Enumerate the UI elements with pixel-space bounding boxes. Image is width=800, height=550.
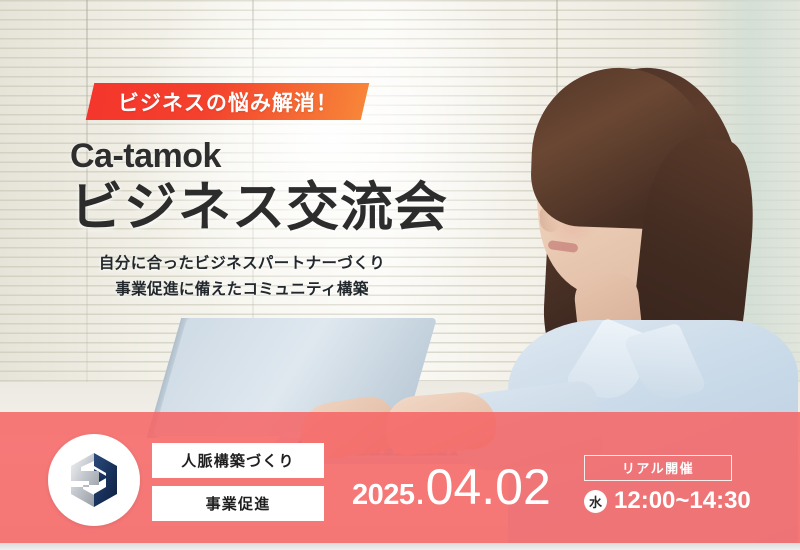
event-info: リアル開催 水 12:00~14:30 (584, 455, 751, 515)
headline-block: Ca-tamok ビジネス交流会 自分に合ったビジネスパートナーづくり 事業促進… (70, 138, 460, 302)
brand-name: Ca-tamok (70, 138, 460, 174)
ribbon-badge: ビジネスの悩み解消！ (86, 83, 370, 120)
event-banner: ビジネスの悩み解消！ Ca-tamok ビジネス交流会 自分に合ったビジネスパー… (0, 0, 800, 550)
date-month-day: 04.02 (426, 462, 551, 512)
subtitle-block: 自分に合ったビジネスパートナーづくり 事業促進に備えたコミュニティ構築 (70, 251, 414, 301)
ribbon-label: ビジネスの悩み解消！ (118, 87, 338, 117)
event-time-row: 水 12:00~14:30 (584, 487, 751, 515)
event-time: 12:00~14:30 (614, 487, 751, 515)
ca-tamok-logo-icon (63, 449, 125, 511)
band-bottom-strip (0, 543, 800, 550)
logo-circle (48, 434, 140, 526)
date-year: 2025 (352, 479, 415, 512)
tag-list: 人脈構築づくり 事業促進 (152, 443, 324, 521)
tag-item-networking: 人脈構築づくり (152, 443, 324, 478)
event-format-badge: リアル開催 (584, 455, 732, 481)
event-title: ビジネス交流会 (70, 178, 460, 238)
subtitle-line-1: 自分に合ったビジネスパートナーづくり (70, 251, 414, 276)
subtitle-line-2: 事業促進に備えたコミュニティ構築 (70, 277, 414, 302)
event-date: 2025 . 04.02 (352, 462, 551, 512)
tag-item-business-promotion: 事業促進 (152, 486, 324, 521)
weekday-badge: 水 (584, 490, 607, 513)
date-separator: . (415, 471, 426, 511)
